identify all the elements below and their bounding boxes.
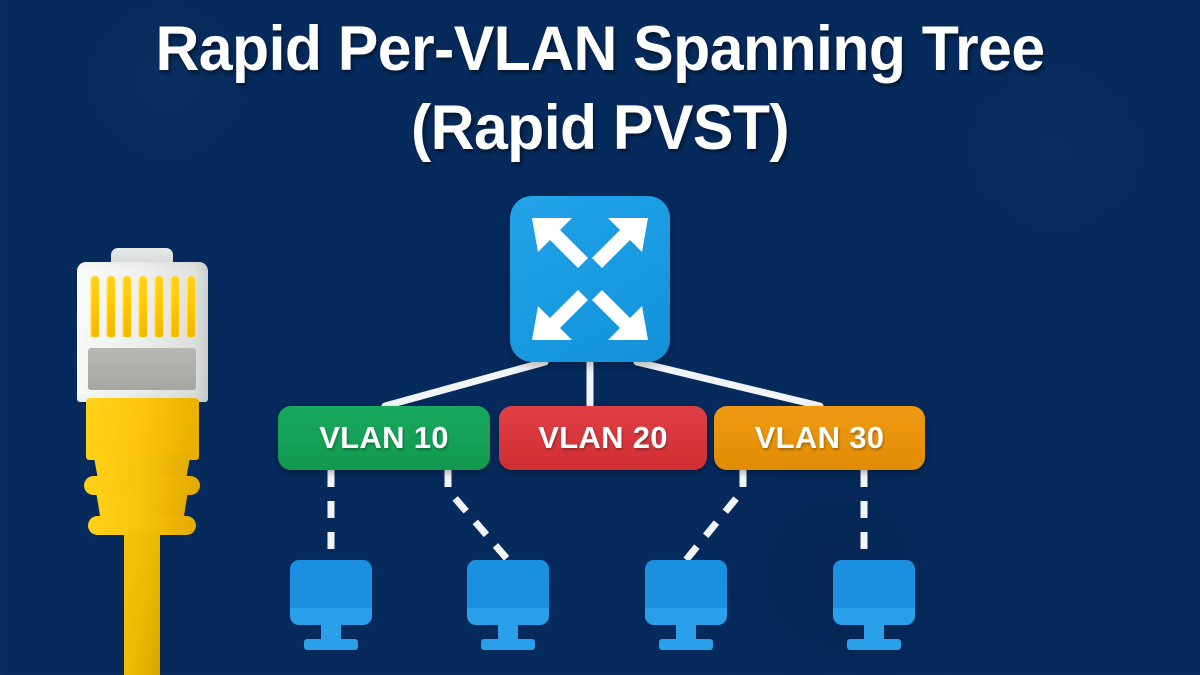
slide-canvas: Rapid Per-VLAN Spanning Tree (Rapid PVST… bbox=[0, 0, 1200, 675]
network-switch-icon[interactable] bbox=[510, 196, 670, 362]
vlan-badge-label: VLAN 20 bbox=[538, 420, 668, 456]
link-vlan10-to-pc2 bbox=[448, 470, 508, 560]
desktop-monitor-icon[interactable] bbox=[645, 560, 727, 650]
link-switch-to-vlan10 bbox=[385, 362, 545, 406]
switch-arrows-glyph bbox=[510, 196, 670, 362]
monitor-base bbox=[481, 639, 535, 650]
vlan-badge-30[interactable]: VLAN 30 bbox=[714, 406, 925, 470]
vlan-badge-10[interactable]: VLAN 10 bbox=[278, 406, 490, 470]
monitor-screen bbox=[645, 560, 727, 625]
monitor-base bbox=[304, 639, 358, 650]
link-vlan30-to-pc3 bbox=[686, 470, 743, 560]
monitor-base bbox=[847, 639, 901, 650]
monitor-screen bbox=[290, 560, 372, 625]
monitor-screen bbox=[467, 560, 549, 625]
desktop-monitor-icon[interactable] bbox=[467, 560, 549, 650]
monitor-screen bbox=[833, 560, 915, 625]
vlan-badge-20[interactable]: VLAN 20 bbox=[499, 406, 707, 470]
vlan-badge-label: VLAN 10 bbox=[319, 420, 449, 456]
vlan-badge-label: VLAN 30 bbox=[755, 420, 885, 456]
desktop-monitor-icon[interactable] bbox=[833, 560, 915, 650]
monitor-base bbox=[659, 639, 713, 650]
desktop-monitor-icon[interactable] bbox=[290, 560, 372, 650]
link-switch-to-vlan30 bbox=[637, 362, 820, 406]
